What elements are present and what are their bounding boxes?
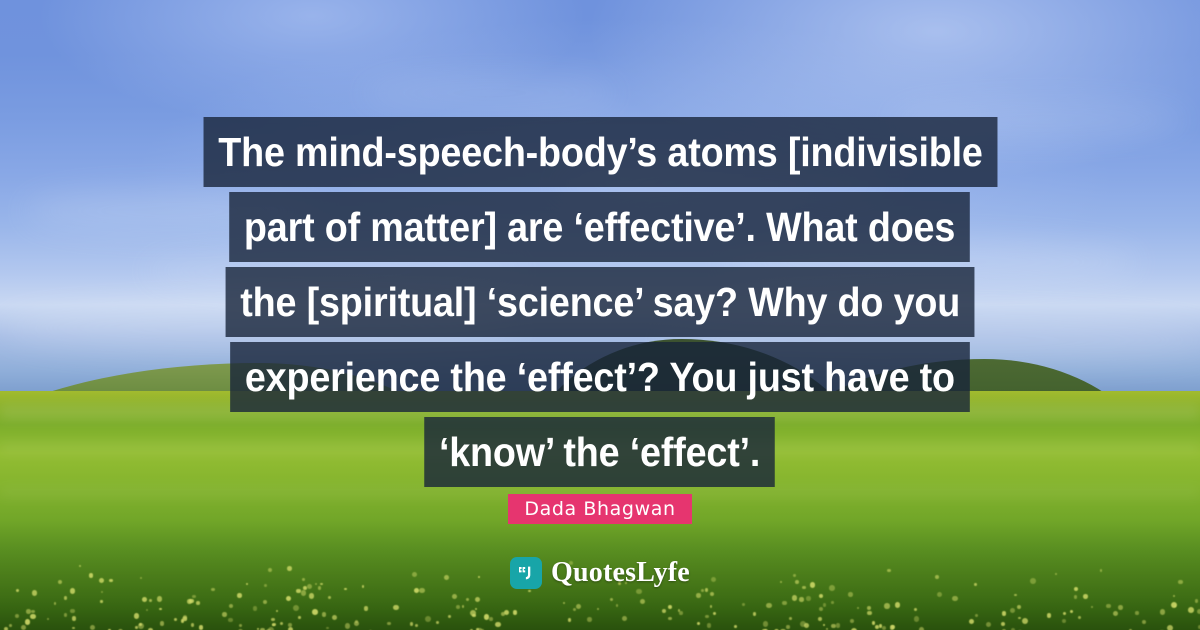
wildflower-dot xyxy=(1063,612,1067,616)
wildflower-dot xyxy=(1017,605,1021,609)
wildflower-dot xyxy=(1167,625,1173,630)
wildflower-dot xyxy=(742,603,745,606)
wildflower-dot xyxy=(237,593,241,597)
wildflower-dot xyxy=(734,625,737,628)
wildflower-dot xyxy=(513,610,517,614)
wildflower-dot xyxy=(159,608,162,611)
wildflower-dot xyxy=(157,596,162,601)
wildflower-dot xyxy=(263,600,267,604)
wildflower-dot xyxy=(489,617,493,621)
wildflower-dot xyxy=(472,614,476,618)
wildflower-dot xyxy=(298,616,300,618)
wildflower-dot xyxy=(823,603,826,606)
wildflower-dot xyxy=(678,609,680,611)
brand-name: QuotesLyfe xyxy=(551,557,690,589)
wildflower-dot xyxy=(15,614,19,618)
wildflower-dot xyxy=(710,592,714,596)
wildflower-dot xyxy=(568,618,571,621)
wildflower-dot xyxy=(1062,619,1066,623)
wildflower-dot xyxy=(1091,606,1093,608)
wildflower-dot xyxy=(800,621,806,627)
wildflower-dot xyxy=(288,623,291,626)
wildflower-dot xyxy=(174,618,177,621)
wildflower-dot xyxy=(189,599,194,604)
quote-line: The mind-speech-body’s atoms [indivisibl… xyxy=(0,117,1200,187)
wildflower-dot xyxy=(70,609,74,613)
wildflower-dot xyxy=(72,627,75,630)
wildflower-dot xyxy=(32,590,38,596)
wildflower-dot xyxy=(573,608,576,611)
wildflower-dot xyxy=(436,621,439,624)
wildflower-dot xyxy=(1106,604,1110,608)
wildflower-dot xyxy=(836,623,840,627)
wildflower-dot xyxy=(364,606,369,611)
wildflower-dot xyxy=(30,614,36,620)
author-name-badge: Dada Bhagwan xyxy=(508,494,691,524)
wildflower-dot xyxy=(1113,611,1118,616)
wildflower-dot xyxy=(21,625,26,630)
wildflower-dot xyxy=(823,624,825,626)
wildflower-dot xyxy=(707,623,712,628)
wildflower-dot xyxy=(393,605,398,610)
wildflower-dot xyxy=(884,603,889,608)
wildflower-dot xyxy=(16,589,19,592)
wildflower-dot xyxy=(1160,609,1166,615)
wildflower-dot xyxy=(1188,607,1194,613)
wildflower-dot xyxy=(597,608,599,610)
wildflower-dot xyxy=(969,619,974,624)
wildflower-dot xyxy=(160,621,164,625)
wildflower-dot xyxy=(228,618,233,623)
wildflower-dot xyxy=(448,615,451,618)
wildflower-dot xyxy=(679,611,683,615)
wildflower-dot xyxy=(668,605,672,609)
quote-line-text: The mind-speech-body’s atoms [indivisibl… xyxy=(203,117,997,187)
wildflower-dot xyxy=(705,615,709,619)
wildflower-dot xyxy=(867,606,871,610)
wildflower-dot xyxy=(818,617,822,621)
wildflower-dot xyxy=(850,619,854,623)
wildflower-dot xyxy=(64,613,68,617)
wildflower-dot xyxy=(890,625,894,629)
wildflower-dot xyxy=(701,589,704,592)
wildflower-dot xyxy=(332,615,337,620)
wildflower-dot xyxy=(196,601,200,605)
wildflower-dot xyxy=(576,604,581,609)
wildflower-dot xyxy=(495,622,501,628)
wildflower-dot xyxy=(986,622,991,627)
wildflower-dot xyxy=(616,604,619,607)
wildflower-dot xyxy=(25,619,31,625)
wildflower-dot xyxy=(146,609,148,611)
wildflower-dot xyxy=(54,602,57,605)
wildflower-dot xyxy=(1171,602,1177,608)
wildflower-dot xyxy=(72,616,76,620)
wildflower-dot xyxy=(1135,611,1138,614)
wildflower-dot xyxy=(1078,616,1081,619)
wildflower-dot xyxy=(875,625,879,629)
wildflower-dot xyxy=(763,621,769,627)
quote-line-text: the [spiritual] ‘science’ say? Why do yo… xyxy=(225,267,974,337)
wildflower-dot xyxy=(296,589,300,593)
quote-text-block: The mind-speech-body’s atoms [indivisibl… xyxy=(0,117,1200,492)
wildflower-dot xyxy=(668,617,671,620)
wildflower-dot xyxy=(1047,613,1052,618)
wildflower-dot xyxy=(452,594,457,599)
wildflower-dot xyxy=(142,597,147,602)
wildflower-dot xyxy=(640,599,645,604)
wildflower-dot xyxy=(501,612,505,616)
quote-mark-icon xyxy=(510,557,542,589)
wildflower-dot xyxy=(1118,605,1123,610)
wildflower-dot xyxy=(286,596,291,601)
wildflower-dot xyxy=(952,596,958,602)
wildflower-dot xyxy=(710,605,712,607)
wildflower-dot xyxy=(475,597,480,602)
wildflower-dot xyxy=(806,596,811,601)
wildflower-dot xyxy=(819,607,823,611)
wildflower-dot xyxy=(101,591,103,593)
wildflower-dot xyxy=(222,612,227,617)
wildflower-dot xyxy=(799,597,803,601)
quote-line: ‘know’ the ‘effect’. xyxy=(0,417,1200,487)
wildflower-dot xyxy=(867,611,872,616)
quote-line: part of matter] are ‘effective’. What do… xyxy=(0,192,1200,262)
wildflower-dot xyxy=(199,625,203,629)
wildflower-dot xyxy=(1018,617,1020,619)
wildflower-dot xyxy=(1070,610,1073,613)
wildflower-dot xyxy=(636,589,642,595)
wildflower-dot xyxy=(937,592,942,597)
wildflower-dot xyxy=(309,593,315,599)
author-attribution: Dada Bhagwan xyxy=(0,494,1200,524)
wildflower-dot xyxy=(271,618,274,621)
wildflower-dot xyxy=(387,622,391,626)
wildflower-dot xyxy=(914,616,920,622)
quote-card: The mind-speech-body’s atoms [indivisibl… xyxy=(0,0,1200,630)
wildflower-dot xyxy=(587,617,592,622)
wildflower-dot xyxy=(192,595,195,598)
wildflower-dot xyxy=(229,604,233,608)
wildflower-dot xyxy=(239,624,242,627)
wildflower-dot xyxy=(301,590,307,596)
wildflower-dot xyxy=(1022,618,1028,624)
wildflower-dot xyxy=(475,608,477,610)
wildflower-dot xyxy=(1002,611,1007,616)
wildflower-dot xyxy=(183,616,187,620)
wildflower-dot xyxy=(662,609,666,613)
wildflower-dot xyxy=(9,624,12,627)
wildflower-dot xyxy=(70,588,76,594)
wildflower-dot xyxy=(47,618,49,620)
wildflower-dot xyxy=(610,598,613,601)
wildflower-dot xyxy=(831,601,834,604)
wildflower-dot xyxy=(563,602,565,604)
wildflower-dot xyxy=(138,623,144,629)
wildflower-dot xyxy=(328,596,331,599)
wildflower-dot xyxy=(1014,594,1016,596)
wildflower-dot xyxy=(64,596,68,600)
wildflower-dot xyxy=(753,612,757,616)
wildflower-dot xyxy=(134,613,139,618)
wildflower-dot xyxy=(276,610,278,612)
wildflower-dot xyxy=(191,623,194,626)
wildflower-dot xyxy=(792,595,797,600)
wildflower-dot xyxy=(90,625,95,630)
wildflower-dot xyxy=(280,622,283,625)
wildflower-dot xyxy=(462,605,464,607)
wildflower-dot xyxy=(1074,595,1078,599)
wildflower-dot xyxy=(1010,608,1015,613)
wildflower-dot xyxy=(713,612,716,615)
quote-line-text: experience the ‘effect’? You just have t… xyxy=(230,342,969,412)
wildflower-dot xyxy=(100,600,102,602)
wildflower-dot xyxy=(456,605,460,609)
wildflower-dot xyxy=(831,624,835,628)
wildflower-dot xyxy=(622,616,627,621)
quote-line: experience the ‘effect’? You just have t… xyxy=(0,342,1200,412)
wildflower-dot xyxy=(697,622,700,625)
wildflower-dot xyxy=(1173,595,1175,597)
quote-line-text: part of matter] are ‘effective’. What do… xyxy=(230,192,971,262)
wildflower-dot xyxy=(1195,599,1198,602)
wildflower-dot xyxy=(253,606,258,611)
wildflower-dot xyxy=(782,601,787,606)
wildflower-dot xyxy=(528,590,531,593)
wildflower-dot xyxy=(312,609,318,615)
wildflower-dot xyxy=(696,593,700,597)
wildflower-dot xyxy=(293,605,299,611)
wildflower-dot xyxy=(848,592,853,597)
wildflower-dot xyxy=(1083,594,1088,599)
quote-line: the [spiritual] ‘science’ say? Why do yo… xyxy=(0,267,1200,337)
cloud-streak xyxy=(360,76,620,110)
wildflower-dot xyxy=(914,608,917,611)
wildflower-dot xyxy=(326,627,328,629)
wildflower-dot xyxy=(410,622,414,626)
wildflower-dot xyxy=(819,594,823,598)
wildflower-dot xyxy=(1142,620,1146,624)
quote-line-text: ‘know’ the ‘effect’. xyxy=(425,417,776,487)
wildflower-dot xyxy=(345,623,351,629)
wildflower-dot xyxy=(857,607,859,609)
wildflower-dot xyxy=(895,602,901,608)
wildflower-dot xyxy=(354,621,359,626)
wildflower-dot xyxy=(786,625,789,628)
wildflower-dot xyxy=(322,612,327,617)
wildflower-dot xyxy=(149,599,152,602)
brand-logo[interactable]: QuotesLyfe xyxy=(0,557,1200,589)
wildflower-dot xyxy=(789,617,792,620)
wildflower-dot xyxy=(466,598,469,601)
wildflower-dot xyxy=(882,626,886,630)
wildflower-dot xyxy=(766,603,771,608)
wildflower-dot xyxy=(31,610,34,613)
wildflower-dot xyxy=(975,614,978,617)
wildflower-dot xyxy=(872,621,875,624)
wildflower-dot xyxy=(425,616,431,622)
wildflower-dot xyxy=(1001,622,1006,627)
wildflower-dot xyxy=(415,624,418,627)
